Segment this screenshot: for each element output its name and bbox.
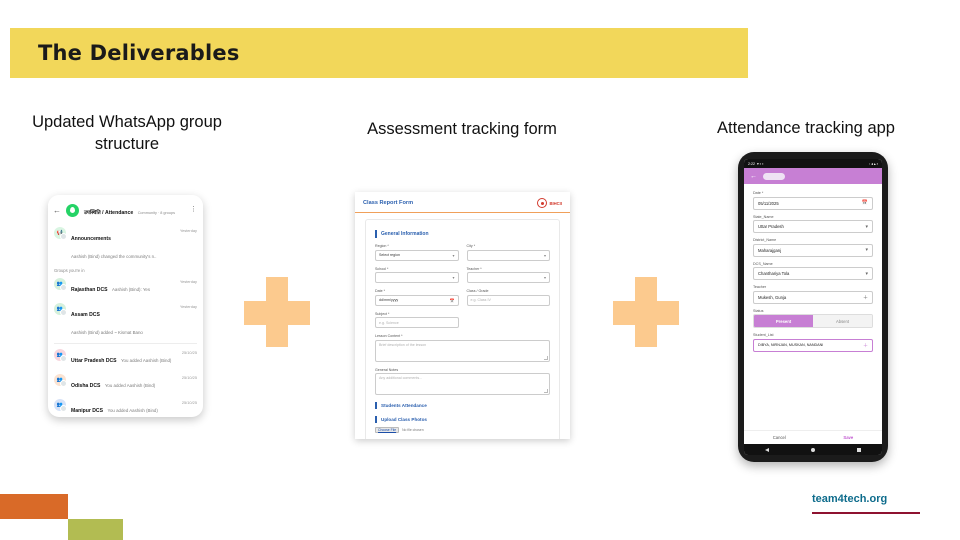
field-region: Region * Select region ▾ [375, 244, 459, 261]
list-item-group[interactable]: 👥 Rajasthan DCS Aashish (Bind): Yes Yest… [48, 274, 203, 299]
section-accent-bar [375, 402, 377, 409]
status-bar-notification-icons: ▾ ▪ ▪ [757, 162, 763, 166]
plus-separator-2 [613, 277, 679, 347]
list-item-message: Aashish (Bind) changed the community's n… [71, 254, 157, 259]
subject-placeholder: e.g. Science [379, 321, 399, 325]
field-label: School * [375, 267, 459, 271]
list-item-message: You added Aashish (Bind) [105, 383, 155, 388]
field-school: School * ▾ [375, 267, 459, 284]
header-rule [355, 212, 570, 213]
status-segmented-control: Present Absent [753, 314, 873, 328]
group-icon: 👥 [54, 278, 66, 290]
page-title: The Deliverables [38, 41, 240, 65]
community-subtitle: Community · 8 groups [138, 211, 175, 215]
dcs-name-value: Chanthariya Tola [758, 271, 789, 276]
chevron-down-icon[interactable]: ▾ [865, 224, 868, 230]
divider [54, 343, 197, 344]
date-input[interactable]: 05/11/2025 📅 [753, 197, 873, 210]
teacher-value: Mukesh, Gunja [758, 295, 786, 300]
back-icon[interactable] [765, 448, 769, 452]
field-lesson-content: Lesson Content * Brief description of th… [375, 334, 550, 362]
save-button[interactable]: Save [843, 435, 853, 440]
section-label-groups: Groups you're in [48, 266, 203, 274]
field-date: Date * dd/mm/yyyy 📅 [375, 289, 459, 306]
brand-footer: team4tech.org [812, 493, 920, 514]
chevron-down-icon: ▾ [544, 253, 546, 258]
list-item-title: Announcements [71, 236, 111, 242]
list-item-time: 25/10/25 [182, 349, 197, 355]
form-header: Class Report Form BIHCII [355, 192, 570, 212]
field-label: Date * [375, 289, 459, 293]
status-bar-system-icons: ▫ ◂ ▴ ▪ [869, 162, 878, 166]
whatsapp-community-screenshot: ← उपस्थिति / Attendance Community · 8 gr… [48, 195, 203, 417]
section-title: Upload Class Photos [381, 417, 427, 422]
field-general-notes: General Notes Any additional comments... [375, 368, 550, 396]
class-report-form-screenshot: Class Report Form BIHCII General Informa… [355, 192, 570, 439]
whatsapp-chat-list: 📢 Announcements Aashish (Bind) changed t… [48, 223, 203, 417]
group-icon: 👥 [54, 349, 66, 361]
cancel-button[interactable]: Cancel [773, 435, 786, 440]
list-item-time: Yesterday [180, 278, 197, 284]
back-arrow-icon[interactable]: ← [750, 173, 757, 180]
field-label: DCS_Name [753, 262, 873, 266]
general-notes-textarea[interactable]: Any additional comments... [375, 373, 550, 395]
region-select[interactable]: Select region ▾ [375, 250, 459, 261]
logo-ring-icon [537, 198, 547, 208]
group-icon: 👥 [54, 399, 66, 411]
caption-attendance-app: Attendance tracking app [688, 117, 924, 139]
section-title: General Information [381, 231, 429, 237]
list-item-group[interactable]: 👥 Odisha DCS You added Aashish (Bind) 25… [48, 370, 203, 395]
decorative-block-olive [68, 519, 123, 540]
field-label: Date * [753, 191, 873, 195]
region-value: Select region [379, 253, 400, 257]
app-title-pill [763, 173, 785, 180]
subject-input[interactable]: e.g. Science [375, 317, 459, 328]
caption-assessment-form: Assessment tracking form [340, 118, 584, 140]
field-district-name: District_Name Maharajganj ▾ [753, 238, 873, 257]
home-icon[interactable] [811, 448, 815, 452]
section-header-upload-class-photos: Upload Class Photos [375, 416, 550, 423]
chevron-down-icon[interactable]: ▾ [865, 271, 868, 277]
field-label: Region * [375, 244, 459, 248]
general-information-panel: General Information Region * Select regi… [365, 219, 560, 439]
form-actions: Cancel Save [744, 430, 882, 444]
student-list-input[interactable]: DIBYA, NIRNJAN, MUSKAN, NANDANI ＋ [753, 339, 873, 352]
list-item-group[interactable]: 👥 Assam DCS Aashish (Bind) added ~ Kisma… [48, 299, 203, 342]
field-label: Class / Grade [467, 289, 551, 293]
group-icon: 👥 [54, 374, 66, 386]
field-label: Lesson Content * [375, 334, 550, 338]
chevron-down-icon: ▾ [452, 275, 454, 280]
add-icon[interactable]: ＋ [863, 294, 868, 301]
caption-whatsapp: Updated WhatsApp group structure [10, 111, 244, 156]
state-name-select[interactable]: Uttar Pradesh ▾ [753, 220, 873, 233]
section-header-general-information: General Information [375, 230, 550, 238]
field-dcs-name: DCS_Name Chanthariya Tola ▾ [753, 262, 873, 281]
list-item-time: Yesterday [180, 227, 197, 233]
date-value: dd/mm/yyyy [379, 298, 398, 302]
list-item-title: Assam DCS [71, 312, 100, 318]
field-subject: Subject * e.g. Science [375, 312, 459, 329]
section-accent-bar [375, 416, 377, 423]
whatsapp-header-text: उपस्थिति / Attendance Community · 8 grou… [84, 201, 185, 219]
field-label: City * [467, 244, 551, 248]
section-header-students-attendance: Students Attendance [375, 402, 550, 409]
date-input[interactable]: dd/mm/yyyy 📅 [375, 295, 459, 306]
dcs-name-select[interactable]: Chanthariya Tola ▾ [753, 267, 873, 280]
field-label: Teacher [753, 285, 873, 289]
overflow-menu-icon[interactable]: ⋮ [190, 208, 197, 212]
list-item-time: 25/10/25 [182, 399, 197, 405]
list-item-group[interactable]: 👥 Uttar Pradesh DCS You added Aashish (B… [48, 345, 203, 370]
slide-canvas: The Deliverables Updated WhatsApp group … [0, 0, 960, 540]
android-navigation-bar [744, 444, 882, 455]
status-bar: 2:22 ▾ ▪ ▪ ▫ ◂ ▴ ▪ [744, 159, 882, 168]
field-label: State_Name [753, 215, 873, 219]
field-teacher: Teacher * ▾ [467, 267, 551, 284]
logo-text: BIHCII [549, 201, 562, 206]
student-list-value: DIBYA, NIRNJAN, MUSKAN, NANDANI [758, 343, 823, 347]
field-student-list: Student_List DIBYA, NIRNJAN, MUSKAN, NAN… [753, 333, 873, 352]
list-item-message: You added Aashish (Bind) [107, 408, 157, 413]
file-upload-row: Choose File No file chosen [375, 427, 550, 433]
section-title: Students Attendance [381, 403, 427, 408]
attendance-form: Date * 05/11/2025 📅 State_Name Uttar Pra… [744, 184, 882, 430]
field-date: Date * 05/11/2025 📅 [753, 191, 873, 210]
status-option-absent[interactable]: Absent [813, 315, 872, 327]
list-item-group[interactable]: 👥 Manipur DCS You added Aashish (Bind) 2… [48, 395, 203, 417]
list-item-message: Aashish (Bind) added ~ Kismat Bano [71, 330, 143, 335]
field-class-grade: Class / Grade e.g. Class IV [467, 289, 551, 306]
list-item-title: Uttar Pradesh DCS [71, 358, 117, 364]
list-item-message: Aashish (Bind): Yes [112, 287, 150, 292]
choose-file-button[interactable]: Choose File [375, 427, 399, 433]
field-city: City * ▾ [467, 244, 551, 261]
field-label: Teacher * [467, 267, 551, 271]
list-item-time: 25/10/25 [182, 374, 197, 380]
district-name-value: Maharajganj [758, 248, 781, 253]
plus-separator-1 [244, 277, 310, 347]
brand-text: team4tech.org [812, 493, 920, 505]
field-teacher: Teacher Mukesh, Gunja ＋ [753, 285, 873, 304]
calendar-icon[interactable]: 📅 [862, 200, 868, 206]
city-select[interactable]: ▾ [467, 250, 551, 261]
community-title: उपस्थिति / Attendance [84, 210, 133, 216]
teacher-input[interactable]: Mukesh, Gunja ＋ [753, 291, 873, 304]
chevron-down-icon: ▾ [452, 253, 454, 258]
list-item-message: You added Aashish (Bind) [121, 358, 171, 363]
school-select[interactable]: ▾ [375, 272, 459, 283]
field-state-name: State_Name Uttar Pradesh ▾ [753, 215, 873, 234]
field-label: District_Name [753, 238, 873, 242]
state-name-value: Uttar Pradesh [758, 224, 784, 229]
field-label: General Notes [375, 368, 550, 372]
add-icon[interactable]: ＋ [863, 342, 868, 349]
class-grade-placeholder: e.g. Class IV [471, 298, 491, 302]
list-item-title: Rajasthan DCS [71, 287, 108, 293]
chevron-down-icon: ▾ [544, 275, 546, 280]
title-banner: The Deliverables [10, 28, 748, 78]
district-name-select[interactable]: Maharajganj ▾ [753, 244, 873, 257]
recents-icon[interactable] [857, 448, 861, 452]
section-accent-bar [375, 230, 377, 238]
community-avatar-icon [66, 204, 79, 217]
field-label: Subject * [375, 312, 459, 316]
phone-screen: 2:22 ▾ ▪ ▪ ▫ ◂ ▴ ▪ ← Date * 05/11/2025 📅 [744, 159, 882, 455]
app-bar: ← [744, 168, 882, 184]
status-bar-time: 2:22 [748, 162, 755, 166]
group-icon: 👥 [54, 303, 66, 315]
organization-logo: BIHCII [537, 198, 562, 208]
field-label: Student_List [753, 333, 873, 337]
list-item-time: Yesterday [180, 303, 197, 309]
lesson-content-textarea[interactable]: Brief description of the lesson [375, 340, 550, 362]
back-arrow-icon[interactable]: ← [53, 206, 61, 215]
teacher-select[interactable]: ▾ [467, 272, 551, 283]
class-grade-input[interactable]: e.g. Class IV [467, 295, 551, 306]
list-item-announcements[interactable]: 📢 Announcements Aashish (Bind) changed t… [48, 223, 203, 266]
megaphone-icon: 📢 [54, 227, 66, 239]
decorative-block-orange [0, 494, 68, 519]
chevron-down-icon[interactable]: ▾ [865, 247, 868, 253]
brand-underline [812, 512, 920, 514]
status-option-present[interactable]: Present [754, 315, 813, 327]
list-item-title: Odisha DCS [71, 383, 100, 389]
field-label: Status [753, 309, 873, 313]
file-status-text: No file chosen [402, 428, 424, 432]
form-title: Class Report Form [363, 200, 413, 206]
calendar-icon: 📅 [450, 298, 455, 303]
whatsapp-header: ← उपस्थिति / Attendance Community · 8 gr… [48, 195, 203, 223]
list-item-title: Manipur DCS [71, 408, 103, 414]
field-status: Status Present Absent [753, 309, 873, 329]
date-value: 05/11/2025 [758, 201, 779, 206]
attendance-app-phone-mockup: 2:22 ▾ ▪ ▪ ▫ ◂ ▴ ▪ ← Date * 05/11/2025 📅 [738, 152, 888, 462]
